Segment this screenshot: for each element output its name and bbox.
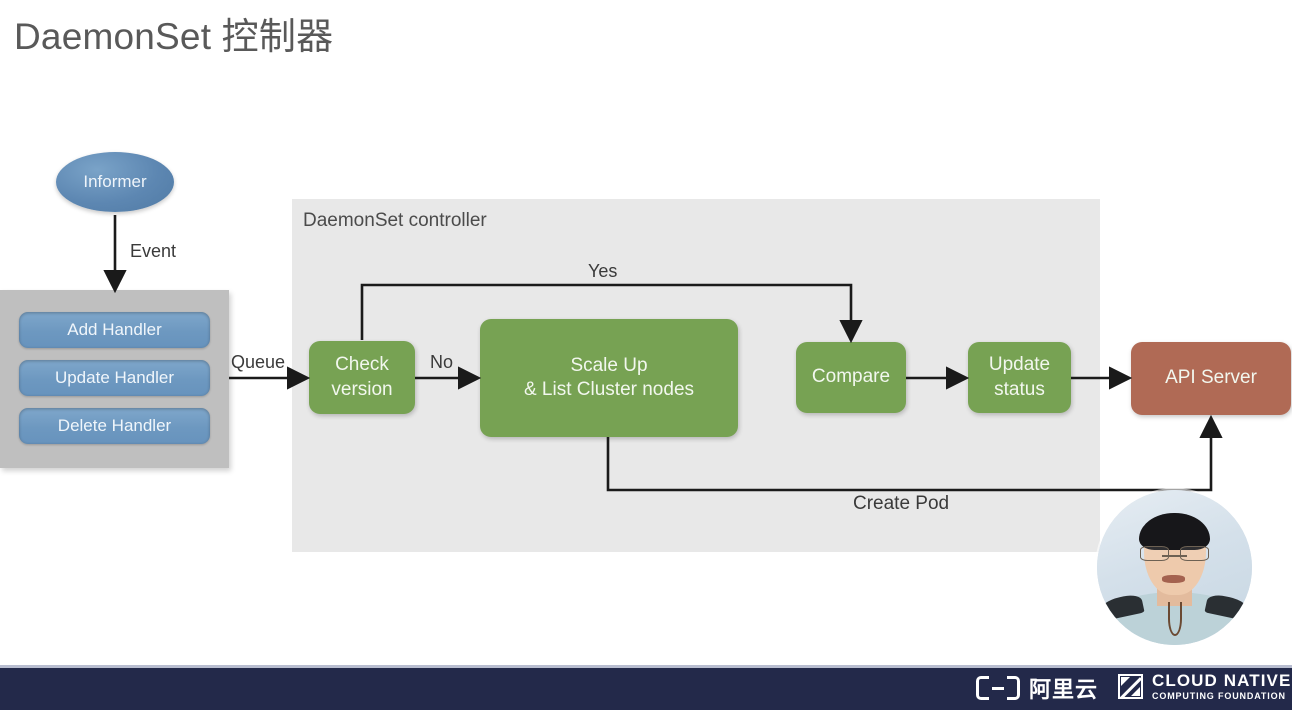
- alibaba-cloud-wordmark: 阿里云: [1029, 672, 1098, 704]
- check-version-node: Checkversion: [309, 341, 415, 414]
- bracket-right-icon: [1007, 676, 1020, 700]
- edge-label-no: No: [430, 352, 453, 373]
- update-handler-label: Update Handler: [55, 368, 174, 388]
- compare-node: Compare: [796, 342, 906, 413]
- informer-node: Informer: [56, 152, 174, 212]
- bracket-left-icon: [976, 676, 989, 700]
- edge-label-yes: Yes: [588, 261, 617, 282]
- cncf-logo: CLOUD NATIVE COMPUTING FOUNDATION: [1118, 672, 1291, 701]
- webcam-glasses-bridge: [1162, 555, 1187, 557]
- webcam-glasses: [1140, 546, 1208, 562]
- webcam-lens-left: [1140, 546, 1169, 562]
- api-server-node: API Server: [1131, 342, 1291, 415]
- page-title: DaemonSet 控制器: [14, 6, 333, 60]
- add-handler-label: Add Handler: [67, 320, 162, 340]
- scale-up-node: Scale Up& List Cluster nodes: [480, 319, 738, 437]
- edge-label-queue: Queue: [231, 352, 285, 373]
- webcam-lens-right: [1180, 546, 1209, 562]
- cncf-line-1: CLOUD NATIVE: [1152, 672, 1291, 689]
- event-handlers-group: Add Handler Update Handler Delete Handle…: [0, 290, 229, 468]
- cncf-triangle-top-icon: [1121, 677, 1130, 686]
- add-handler-node: Add Handler: [19, 312, 210, 348]
- update-status-node: Updatestatus: [968, 342, 1071, 413]
- alibaba-cloud-bracket-icon: [976, 676, 1020, 700]
- cncf-wordmark: CLOUD NATIVE COMPUTING FOUNDATION: [1152, 672, 1291, 701]
- cncf-line-2: COMPUTING FOUNDATION: [1152, 692, 1291, 701]
- footer-bar: [0, 668, 1292, 710]
- compare-label: Compare: [812, 365, 890, 389]
- check-version-label: Checkversion: [331, 353, 392, 402]
- slide-canvas: DaemonSet 控制器 DaemonSet controller Infor…: [0, 0, 1292, 710]
- bracket-dash-icon: [992, 687, 1004, 691]
- delete-handler-node: Delete Handler: [19, 408, 210, 444]
- controller-panel-caption: DaemonSet controller: [303, 210, 487, 232]
- api-server-label: API Server: [1165, 366, 1257, 390]
- presenter-webcam-bubble: [1097, 490, 1252, 645]
- edge-label-event: Event: [130, 241, 176, 262]
- informer-label: Informer: [83, 172, 146, 192]
- webcam-mouth: [1162, 575, 1185, 583]
- edge-label-create-pod: Create Pod: [853, 493, 949, 515]
- delete-handler-label: Delete Handler: [58, 416, 171, 436]
- update-status-label: Updatestatus: [989, 353, 1050, 402]
- alibaba-cloud-logo: 阿里云: [976, 672, 1098, 704]
- scale-up-label: Scale Up& List Cluster nodes: [524, 354, 694, 403]
- cncf-square-icon: [1118, 674, 1143, 699]
- update-handler-node: Update Handler: [19, 360, 210, 396]
